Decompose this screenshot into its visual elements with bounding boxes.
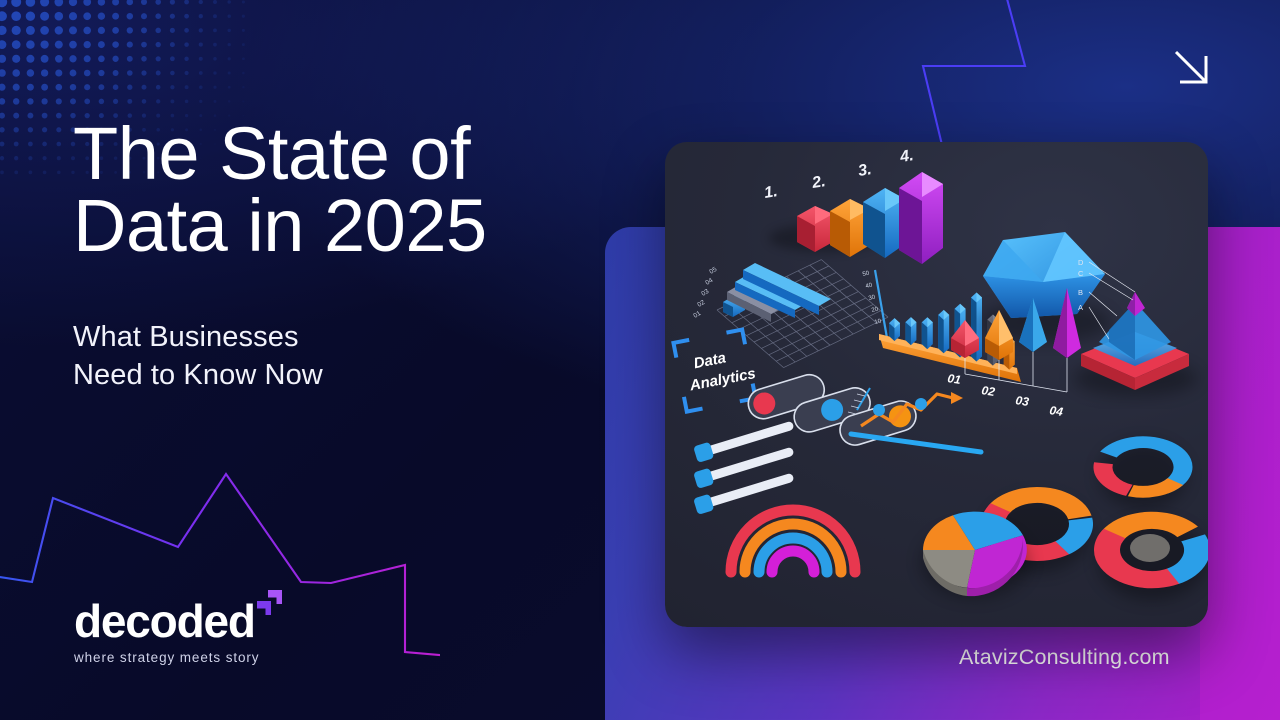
svg-text:04: 04	[704, 277, 714, 287]
numbered-bar-chart: 1. 2. 3. 4.	[763, 147, 943, 264]
brand-logo[interactable]: decoded where strategy meets story	[74, 598, 334, 665]
svg-text:04: 04	[1049, 403, 1065, 419]
page-subtitle: What Businesses Need to Know Now	[73, 318, 613, 395]
double-chevron-arrow-icon	[249, 584, 289, 624]
svg-text:2.: 2.	[810, 173, 827, 192]
logo-wordmark: decoded	[74, 595, 255, 647]
3d-data-visualization-card: 1. 2. 3. 4.	[665, 142, 1208, 627]
svg-text:1.: 1.	[763, 183, 779, 202]
svg-text:50: 50	[862, 270, 871, 278]
slider-row-group[interactable]	[693, 417, 796, 515]
svg-text:4.: 4.	[898, 147, 915, 166]
svg-text:03: 03	[1015, 393, 1031, 409]
headline-block: The State of Data in 2025 What Businesse…	[73, 118, 613, 394]
svg-text:05: 05	[708, 266, 718, 276]
3d-visualization-artwork: 1. 2. 3. 4.	[665, 142, 1208, 627]
presentation-slide: The State of Data in 2025 What Businesse…	[0, 0, 1280, 720]
svg-text:D: D	[1078, 258, 1084, 267]
logo-wordmark-row: decoded	[74, 598, 255, 644]
svg-text:Data: Data	[692, 349, 727, 372]
svg-text:A: A	[1078, 303, 1083, 312]
svg-text:01: 01	[947, 371, 963, 387]
svg-text:40: 40	[865, 282, 874, 290]
svg-text:3.: 3.	[857, 161, 873, 180]
arc-rainbow-chart	[731, 510, 855, 572]
svg-text:20: 20	[871, 306, 880, 314]
arrow-down-right-icon	[1172, 48, 1214, 90]
svg-text:30: 30	[868, 294, 877, 302]
website-url[interactable]: AtavizConsulting.com	[959, 645, 1170, 670]
svg-text:02: 02	[696, 299, 706, 309]
donut-chart-top-right	[1087, 432, 1199, 509]
pie-chart	[921, 512, 1029, 598]
svg-text:01: 01	[692, 310, 702, 320]
data-analytics-label-chip: Data Analytics	[673, 329, 760, 412]
svg-text:02: 02	[981, 383, 997, 399]
page-title: The State of Data in 2025	[73, 118, 613, 262]
svg-text:03: 03	[700, 288, 710, 298]
svg-text:B: B	[1078, 288, 1083, 297]
donut-chart-bottom-right	[1091, 510, 1208, 600]
svg-text:C: C	[1078, 269, 1084, 278]
svg-text:10: 10	[874, 318, 883, 326]
logo-tagline: where strategy meets story	[74, 650, 334, 665]
